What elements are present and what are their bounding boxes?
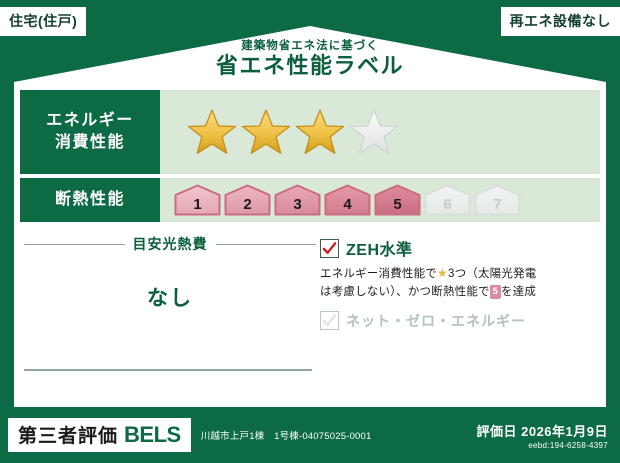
mini-house-icon: 5 <box>490 285 501 299</box>
zeh-row: ZEH水準 <box>320 236 600 260</box>
header-titles: 建築物省エネ法に基づく 省エネ性能ラベル <box>0 40 620 78</box>
energy-performance-label-line2: 消費性能 <box>55 132 125 154</box>
zeh-title: ZEH水準 <box>346 236 413 260</box>
house-level-number: 1 <box>193 196 201 216</box>
star-icon-filled <box>240 107 292 157</box>
zeh-desc-part1: エネルギー消費性能で <box>320 268 437 280</box>
rule-right <box>216 244 317 245</box>
bels-logo: 第三者評価 BELS <box>8 418 191 452</box>
renewable-equipment-label: 再エネ設備なし <box>510 13 612 29</box>
energy-performance-row: エネルギー 消費性能 <box>20 90 600 174</box>
net-zero-energy-label: ネット・ゼロ・エネルギー <box>346 311 526 331</box>
mini-star-icon: ★ <box>437 266 448 280</box>
bels-en-label: BELS <box>124 422 181 448</box>
zeh-desc-part3: は考慮しない）、かつ断熱性能で <box>320 286 490 298</box>
zeh-desc-part2: 3つ（太陽光発電 <box>448 268 537 280</box>
utility-cost-value: なし <box>20 282 320 312</box>
label-card: エネルギー 消費性能 断熱性能 1234567 目安光熱費 なし <box>14 84 606 407</box>
house-level-number: 5 <box>393 196 401 216</box>
insulation-performance-row: 断熱性能 1234567 <box>20 178 600 222</box>
house-icon-empty: 7 <box>474 184 521 216</box>
renewable-equipment-badge: 再エネ設備なし <box>500 6 620 37</box>
check-icon-disabled <box>320 311 339 330</box>
evaluation-date: 評価日 2026年1月9日 <box>477 421 609 440</box>
house-icon-filled: 5 <box>374 184 421 216</box>
house-icon-empty: 6 <box>424 184 471 216</box>
header-subtitle: 建築物省エネ法に基づく <box>0 40 620 53</box>
utility-cost-heading-text: 目安光熱費 <box>133 234 208 254</box>
house-level-number: 6 <box>443 196 451 216</box>
house-level-number: 3 <box>293 196 301 216</box>
rule-left <box>24 244 125 245</box>
star-rating <box>160 90 600 174</box>
house-icon-filled: 1 <box>174 184 221 216</box>
page-title: 省エネ性能ラベル <box>0 54 620 78</box>
lower-section: 目安光熱費 なし ZEH水準 エネルギー消費性能で★3つ（太陽光発電 は考慮しな… <box>20 226 600 407</box>
utility-cost-heading: 目安光熱費 <box>20 234 320 254</box>
zeh-description: エネルギー消費性能で★3つ（太陽光発電 は考慮しない）、かつ断熱性能で5を達成 <box>320 264 600 302</box>
house-level-number: 2 <box>243 196 251 216</box>
house-level-number: 4 <box>343 196 351 216</box>
check-icon <box>320 239 339 258</box>
utility-cost-bottom-rule <box>24 369 312 371</box>
star-icon-filled <box>294 107 346 157</box>
net-zero-energy-row: ネット・ゼロ・エネルギー <box>320 311 600 331</box>
energy-performance-label: エネルギー 消費性能 <box>20 90 160 174</box>
zeh-desc-part4: を達成 <box>501 286 536 298</box>
evaluation-info: 評価日 2026年1月9日 eebd:194-6258-4397 <box>477 421 609 450</box>
house-icon-filled: 3 <box>274 184 321 216</box>
building-type-label: 住宅(住戸) <box>9 13 77 29</box>
energy-performance-label-line1: エネルギー <box>46 110 134 132</box>
utility-cost-panel: 目安光熱費 なし <box>20 226 320 407</box>
star-icon-filled <box>186 107 238 157</box>
building-type-badge: 住宅(住戸) <box>0 6 87 37</box>
footer-bar: 第三者評価 BELS 川越市上戸1棟 1号棟-04075025-0001 評価日… <box>0 407 620 463</box>
star-icon-empty <box>348 107 400 157</box>
house-icon-filled: 2 <box>224 184 271 216</box>
insulation-performance-label: 断熱性能 <box>20 178 160 222</box>
bels-jp-label: 第三者評価 <box>18 421 118 448</box>
zeh-panel: ZEH水準 エネルギー消費性能で★3つ（太陽光発電 は考慮しない）、かつ断熱性能… <box>320 226 600 407</box>
insulation-level-scale: 1234567 <box>160 178 600 222</box>
property-address: 川越市上戸1棟 1号棟-04075025-0001 <box>201 428 372 442</box>
evaluation-code: eebd:194-6258-4397 <box>477 441 609 450</box>
house-level-number: 7 <box>493 196 501 216</box>
house-icon-filled: 4 <box>324 184 371 216</box>
insulation-performance-label-text: 断熱性能 <box>55 189 125 211</box>
